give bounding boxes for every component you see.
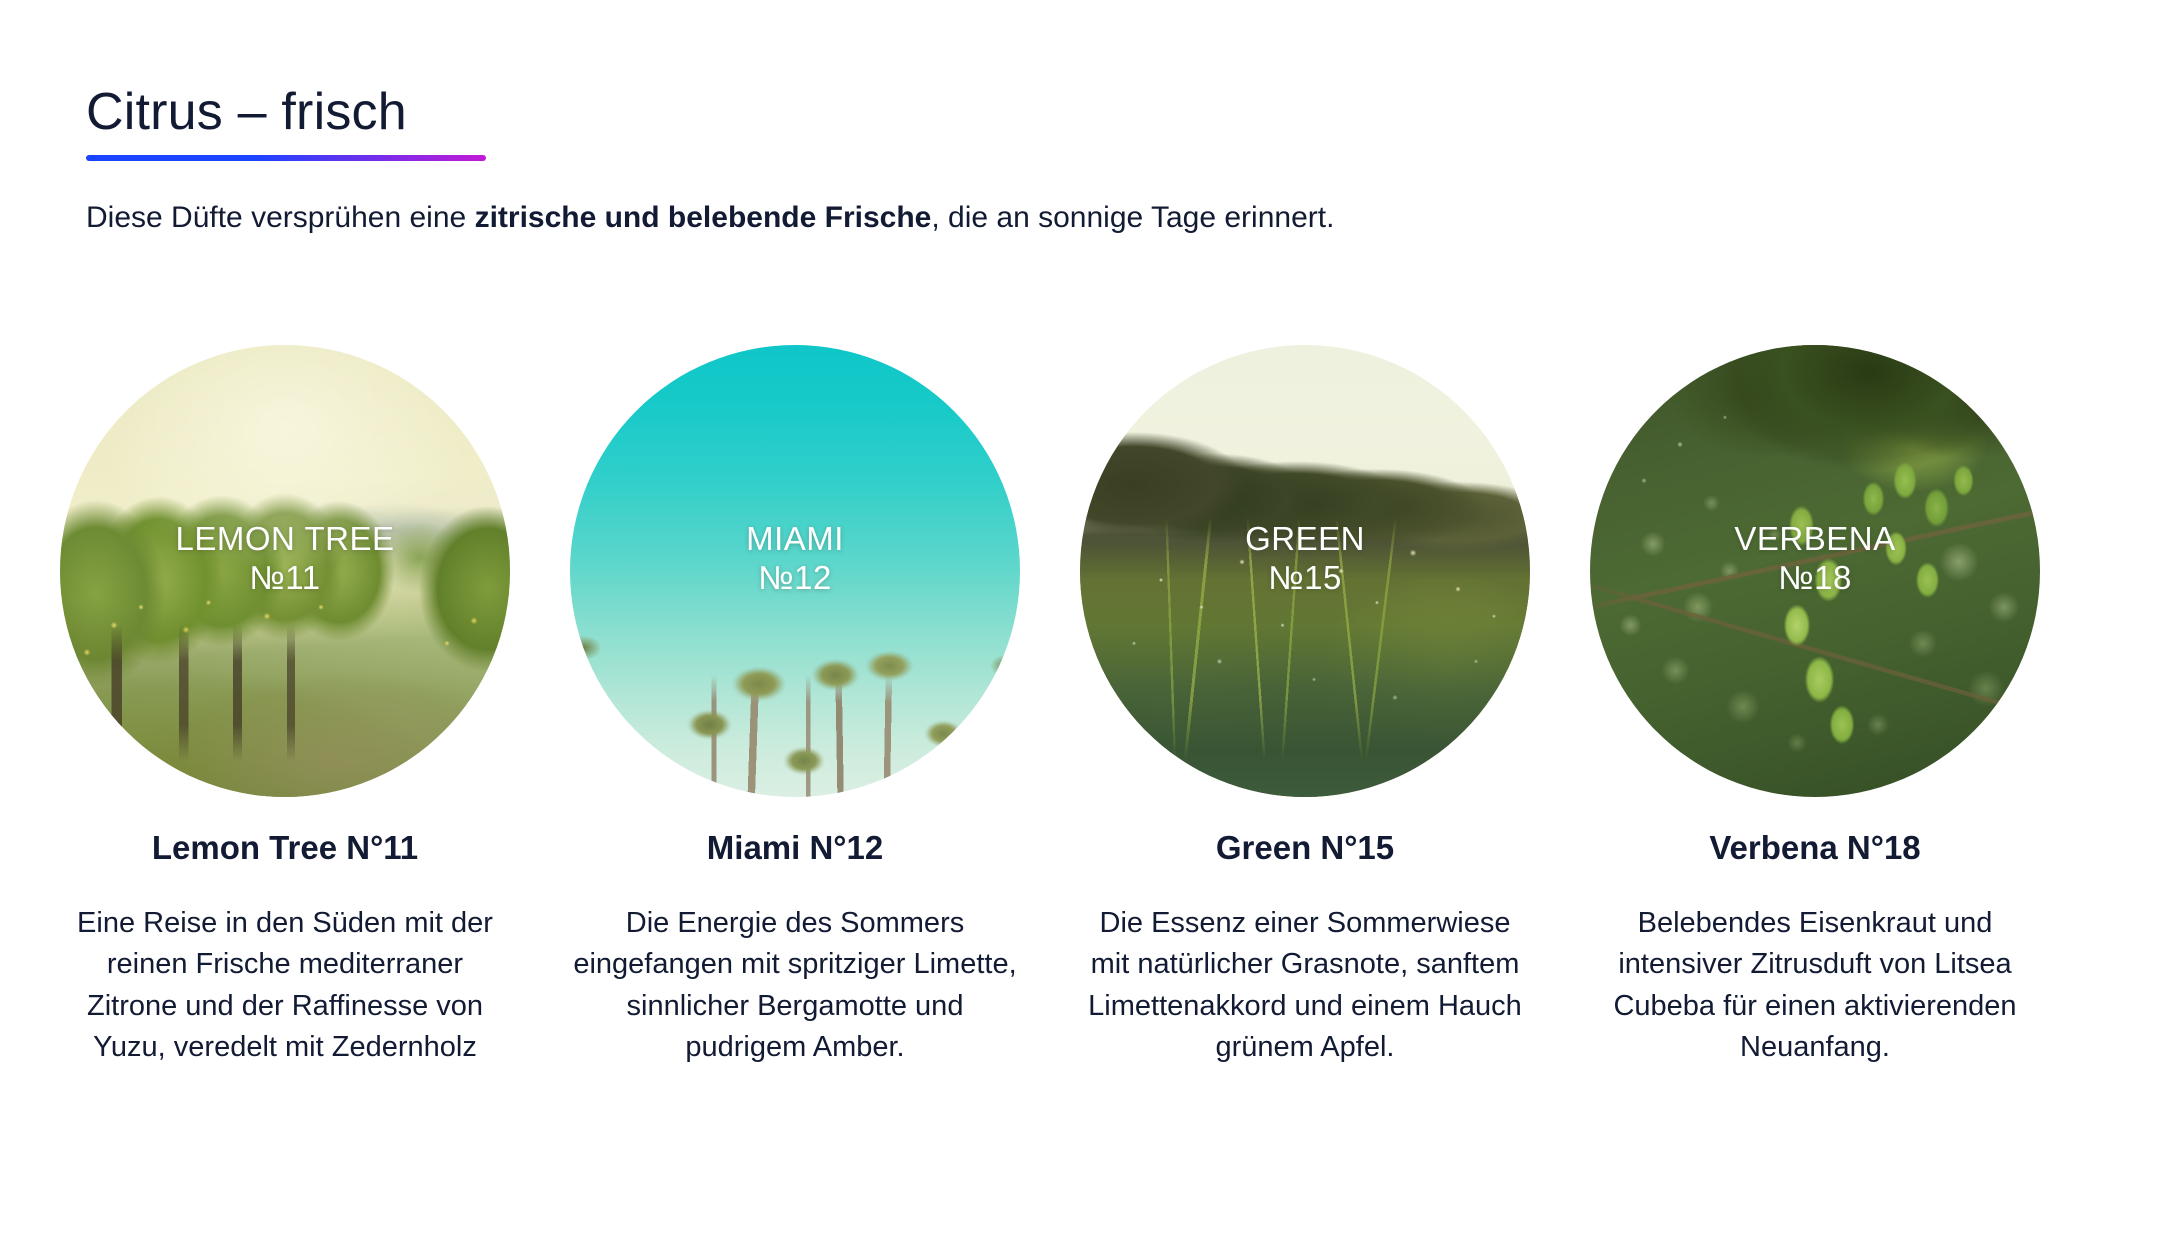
circle-image-mask	[60, 345, 510, 797]
circle-image-mask	[1080, 345, 1530, 797]
product-title: Miami N°12	[707, 829, 883, 867]
page-subtitle: Diese Düfte versprühen eine zitrische un…	[86, 198, 1334, 239]
circle-image-mask	[1590, 345, 2040, 797]
photo-layer-sun-haze	[60, 345, 510, 797]
product-image-lemon-tree[interactable]: LEMON TREE №11	[60, 345, 510, 797]
product-image-verbena[interactable]: VERBENA №18	[1590, 345, 2040, 797]
photo-layer-droplets	[1590, 345, 2040, 797]
circle-image-mask	[570, 345, 1020, 797]
product-card-verbena[interactable]: VERBENA №18 Verbena N°18 Belebendes Eise…	[1590, 345, 2040, 1069]
page-title: Citrus – frisch	[86, 84, 486, 141]
product-card-green[interactable]: GREEN №15 Green N°15 Die Essenz einer So…	[1080, 345, 1530, 1069]
product-image-miami[interactable]: MIAMI №12	[570, 345, 1020, 797]
subtitle-part-2: , die an sonnige Tage erinnert.	[931, 201, 1334, 234]
photo-layer-dew-drops	[1080, 345, 1530, 797]
subtitle-emphasis: zitrische und belebende Frische	[475, 201, 932, 234]
page-header: Citrus – frisch	[86, 84, 486, 161]
product-title: Verbena N°18	[1709, 829, 1920, 867]
product-description: Die Energie des Sommers eingefangen mit …	[570, 903, 1020, 1069]
product-card-lemon-tree[interactable]: LEMON TREE №11 Lemon Tree N°11 Eine Reis…	[60, 345, 510, 1069]
product-title: Green N°15	[1216, 829, 1394, 867]
product-image-green[interactable]: GREEN №15	[1080, 345, 1530, 797]
title-underline-rule	[86, 155, 486, 161]
subtitle-part-1: Diese Düfte versprühen eine	[86, 201, 475, 234]
product-description: Die Essenz einer Sommerwiese mit natürli…	[1080, 903, 1530, 1069]
product-description: Belebendes Eisenkraut und intensiver Zit…	[1590, 903, 2040, 1069]
product-grid: LEMON TREE №11 Lemon Tree N°11 Eine Reis…	[60, 345, 2100, 1069]
product-title: Lemon Tree N°11	[152, 829, 418, 867]
photo-layer-palm-crowns	[570, 345, 1020, 797]
product-description: Eine Reise in den Süden mit der reinen F…	[60, 903, 510, 1069]
product-card-miami[interactable]: MIAMI №12 Miami N°12 Die Energie des Som…	[570, 345, 1020, 1069]
fragrance-category-page: Citrus – frisch Diese Düfte versprühen e…	[0, 0, 2160, 1258]
